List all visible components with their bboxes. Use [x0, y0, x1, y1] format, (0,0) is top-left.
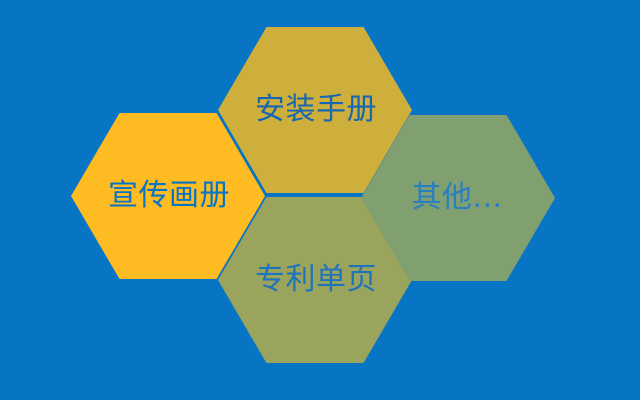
hexagon-label-other: 其他...	[411, 183, 502, 213]
hexagon-diagram-canvas: 宣传画册 安装手册 专利单页 其他...	[0, 0, 640, 400]
hexagon-label-promo: 宣传画册	[108, 181, 230, 211]
hexagon-label-patent: 专利单页	[255, 265, 377, 295]
hexagon-label-manual: 安装手册	[255, 95, 377, 125]
